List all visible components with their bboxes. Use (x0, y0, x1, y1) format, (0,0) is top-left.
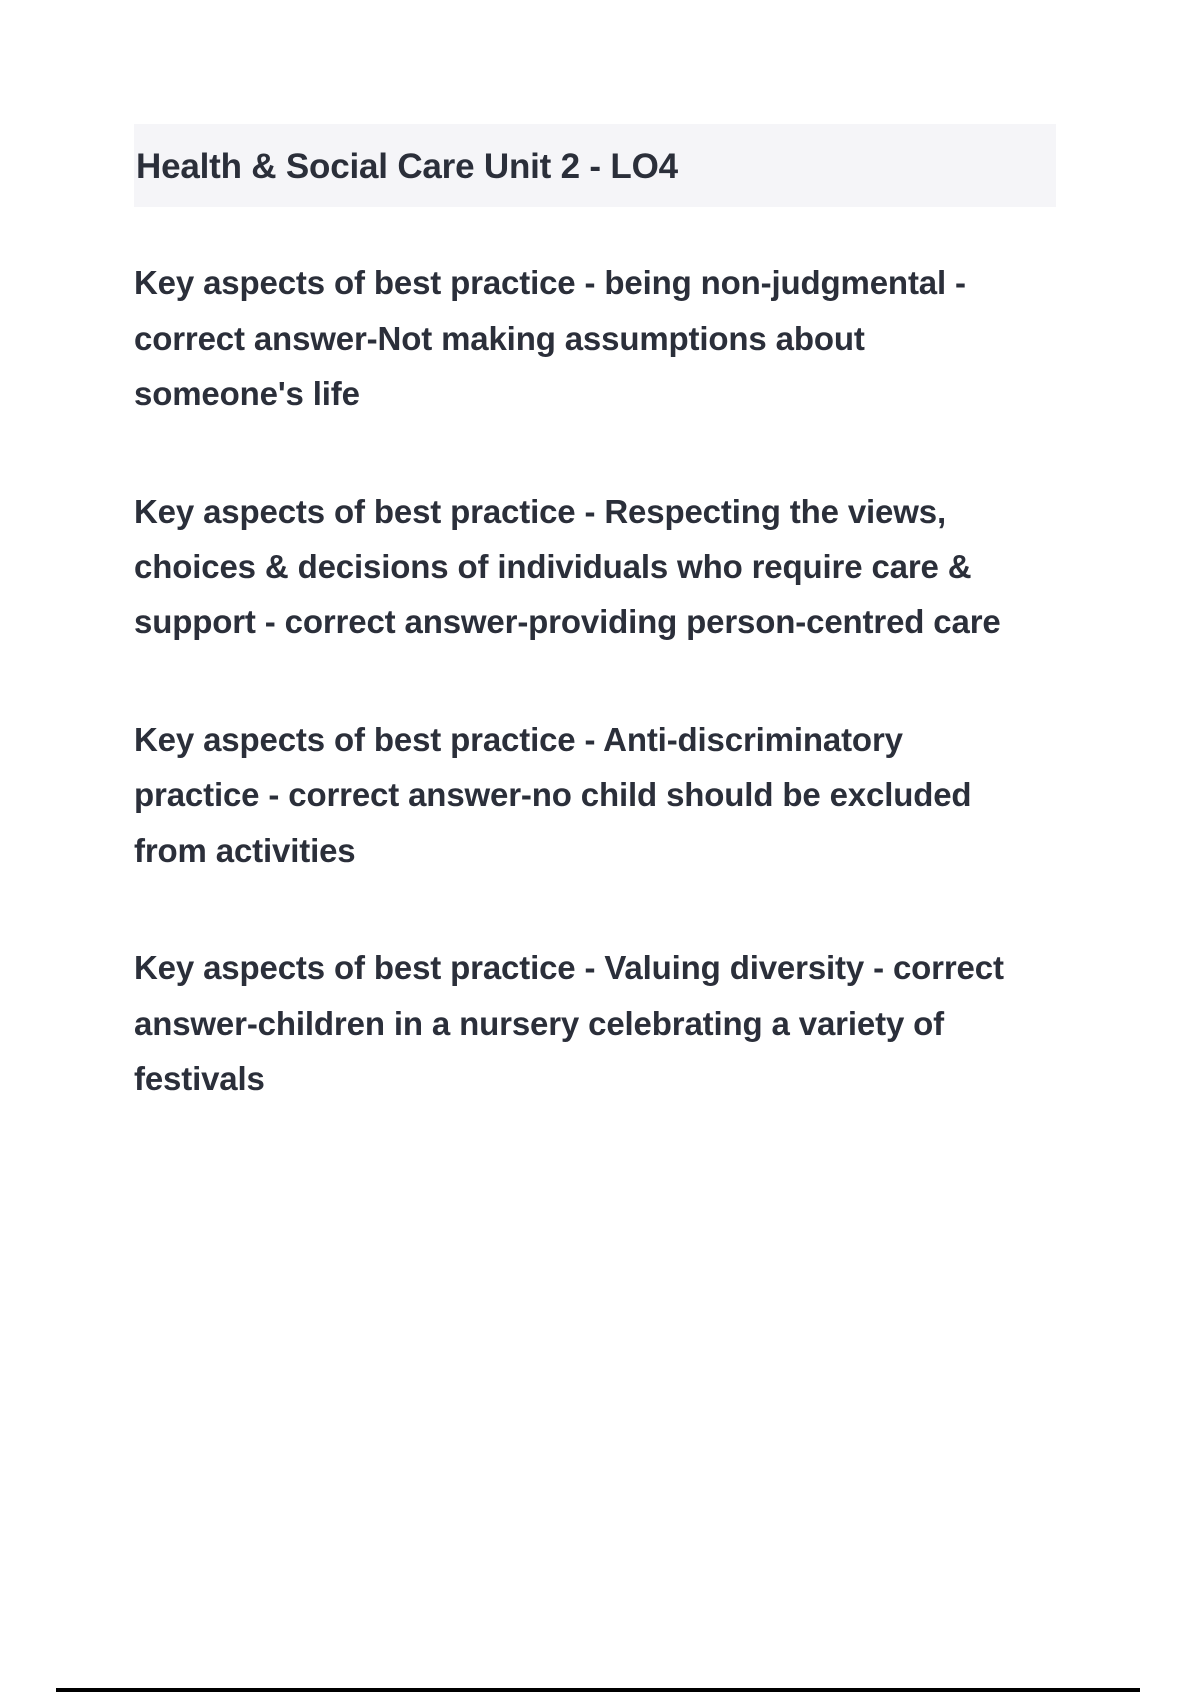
qa-block-valuing-diversity: Key aspects of best practice - Valuing d… (134, 940, 1034, 1106)
page-title: Health & Social Care Unit 2 - LO4 (134, 146, 1056, 187)
qa-block-non-judgmental: Key aspects of best practice - being non… (134, 255, 1034, 421)
document-body: Health & Social Care Unit 2 - LO4 Key as… (134, 124, 1064, 1107)
footer-divider (56, 1688, 1140, 1692)
qa-block-respecting-views: Key aspects of best practice - Respectin… (134, 484, 1034, 650)
document-page: Health & Social Care Unit 2 - LO4 Key as… (0, 0, 1200, 1700)
qa-block-list: Key aspects of best practice - being non… (134, 255, 1064, 1106)
qa-block-anti-discriminatory-practice: Key aspects of best practice - Anti-disc… (134, 712, 1034, 878)
document-title-band: Health & Social Care Unit 2 - LO4 (134, 124, 1056, 207)
